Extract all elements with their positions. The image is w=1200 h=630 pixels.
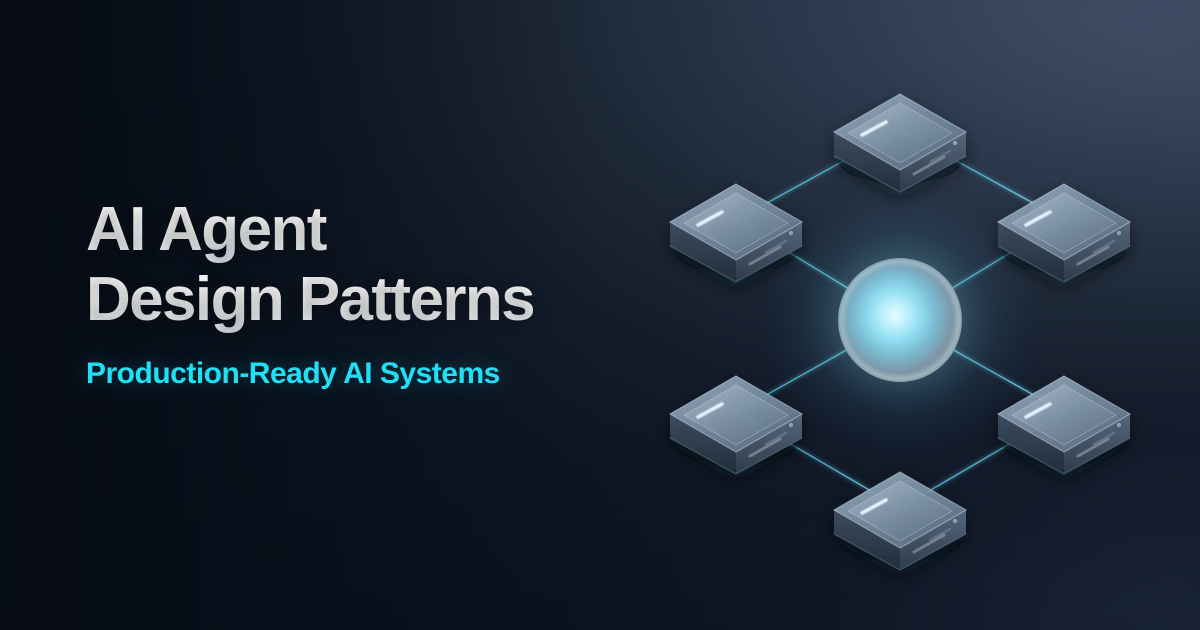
banner-canvas: AI Agent Design Patterns Production-Read… xyxy=(0,0,1200,630)
network-node-top[interactable] xyxy=(834,94,966,192)
page-title-line-1: AI Agent xyxy=(86,196,706,264)
network-node-bottom[interactable] xyxy=(834,472,966,570)
core-sphere-rim xyxy=(838,258,962,382)
central-core-sphere[interactable] xyxy=(762,182,1038,458)
headline-block: AI Agent Design Patterns Production-Read… xyxy=(86,196,706,391)
page-title-line-2: Design Patterns xyxy=(86,266,706,334)
page-subtitle: Production-Ready AI Systems xyxy=(86,357,706,391)
